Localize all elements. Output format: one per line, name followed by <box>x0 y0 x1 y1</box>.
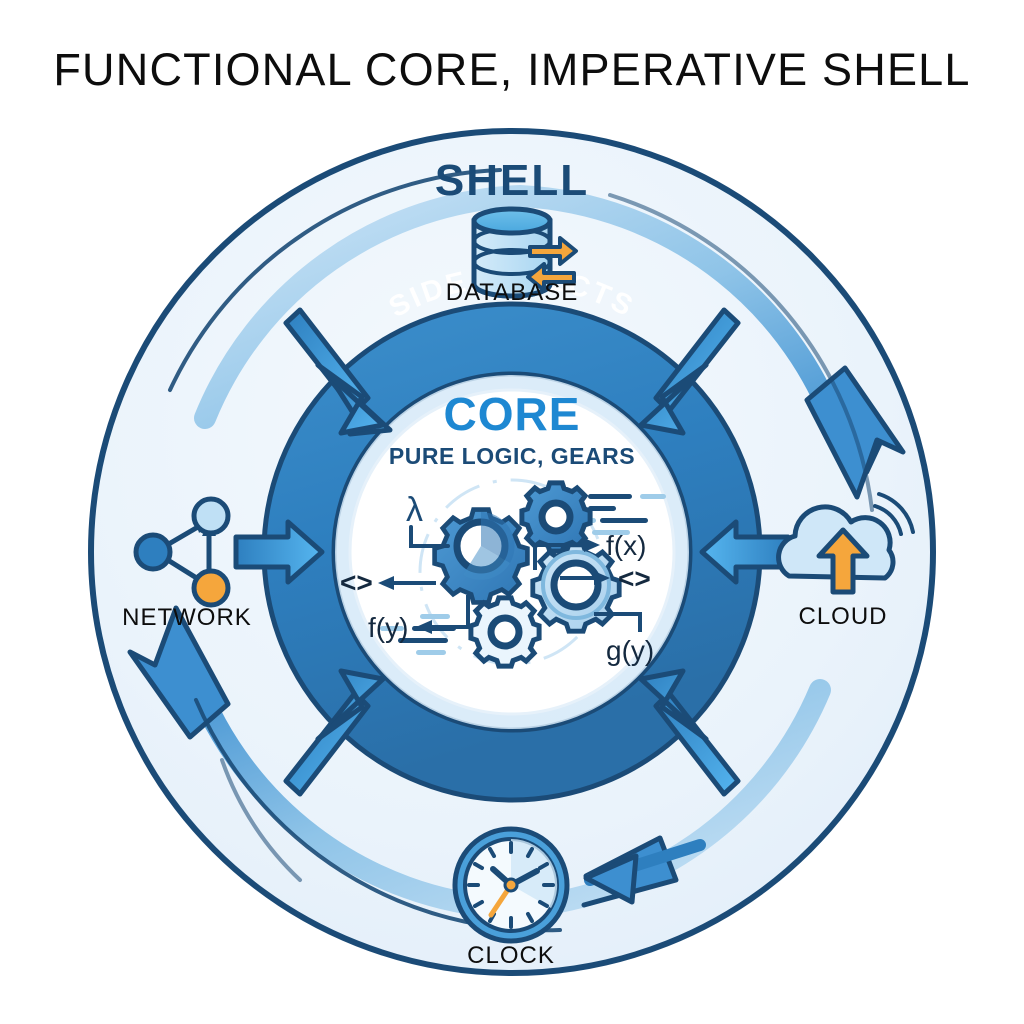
core-title: CORE <box>444 388 581 440</box>
functional-core-imperative-shell-diagram: SHELL SIDE EFFECTS CORE PURE LOGIC, GEAR… <box>0 0 1024 1024</box>
network-label: NETWORK <box>122 604 252 631</box>
diagram-canvas: FUNCTIONAL CORE, IMPERATIVE SHELL <box>0 0 1024 1024</box>
gear-primary-icon <box>435 510 528 603</box>
gear-small-bottom-icon <box>471 598 539 666</box>
svg-text:<>: <> <box>618 563 651 594</box>
svg-text:f(y): f(y) <box>368 612 408 643</box>
svg-text:λ: λ <box>406 491 423 529</box>
svg-text:g(y): g(y) <box>606 635 654 666</box>
svg-text:<>: <> <box>340 567 373 598</box>
clock-icon[interactable] <box>455 829 567 941</box>
gear-small-top-icon <box>522 483 590 551</box>
core-subtitle: PURE LOGIC, GEARS <box>389 443 635 469</box>
svg-text:f(x): f(x) <box>606 530 646 561</box>
cloud-label: CLOUD <box>798 603 887 630</box>
clock-label: CLOCK <box>467 942 555 969</box>
shell-label: SHELL <box>435 156 589 205</box>
database-label: DATABASE <box>446 279 578 306</box>
